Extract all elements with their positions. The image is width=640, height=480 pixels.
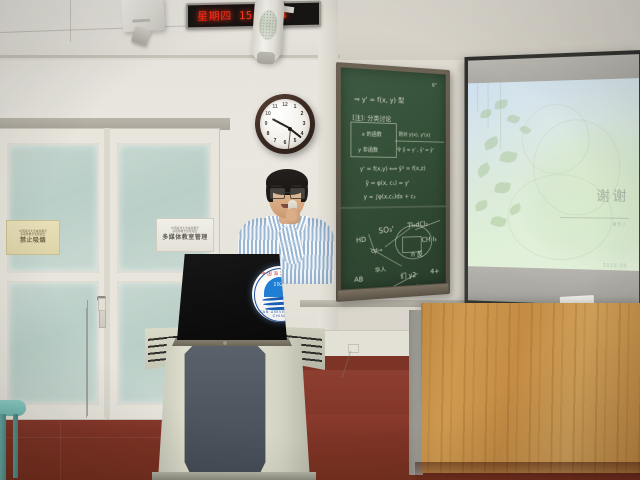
chalk-text: HD [356,236,367,245]
stool-leg [13,414,18,478]
slide-leaf-graphic [495,99,508,109]
glasses-bridge [283,192,290,193]
chalk-text: y' = f(x,y) ⟺ ŷ² = f(x,z) [360,165,426,172]
projected-slide: 谢谢 报告人 2019.09 [468,78,639,272]
person-hand-right [285,207,301,225]
chalk-text: x 的函数 [362,130,382,138]
glasses-lens-left [270,188,285,199]
chalk-text: 华人 [375,264,387,274]
chalk-text: n 反 [411,249,423,259]
clock-face: 12 1 2 3 4 5 6 7 8 9 10 11 [260,99,310,149]
classroom-door-left[interactable] [0,128,108,420]
chalk-text: 们 y2 [400,270,416,281]
university-emblem: 中国海洋大学 1924 OCEAN UNIVERSITY OF CHINA [252,266,308,322]
door-sign-left: 中国海洋大学本科教学 多媒体教室管理规定 禁止吸烟 [6,220,60,255]
wooden-desk-top [421,303,640,473]
emblem-english-name: OCEAN UNIVERSITY OF CHINA [252,310,308,318]
clock-numeral-3: 3 [300,121,308,127]
slide-leaf-graphic [499,150,517,165]
projection-screen: 谢谢 报告人 2019.09 [464,50,640,310]
slide-leaf-graphic [490,214,507,229]
chalk-text: AB [354,275,363,283]
chalk-text: cd→ [371,247,382,255]
chalk-text: 4+ [430,267,439,275]
column-speaker [251,0,286,63]
clock-center-pin [288,127,292,131]
slide-leaf-graphic [483,136,500,151]
chalk-line [395,141,444,143]
clock-numeral-12: 12 [281,102,289,108]
speaker-cap [257,51,276,64]
person-eyebrow-left [271,185,282,187]
wall-outlet[interactable] [98,298,106,311]
chalk-text: ŷ = φ(x, c₁) = y' [366,180,410,187]
slide-date-text: 2019.09 [603,263,627,270]
blackboard: ⇒ y' = f(x, y) 型[注]: 分类讨论x 的函数则对 y(x), y… [336,62,450,302]
slide-thanks-text: 谢谢 [596,186,629,206]
podium-base [152,472,316,480]
lecture-hall-photo: 中国海洋大学本科教学 多媒体教室管理规定 禁止吸烟 中国海洋大学本科教学 多媒体… [0,0,640,480]
door-sign-left-title: 禁止吸烟 [20,238,46,246]
stool-leg [0,414,6,480]
slide-leaf-graphic [494,181,511,195]
clock-numeral-2: 2 [298,111,306,117]
chalk-text: y = ∫φ(x,c₁)dx + c₂ [364,193,416,200]
slide-leaf-graphic [475,162,492,178]
speaker-grill-mesh [258,9,278,40]
led-weekday-text: 星期四 [197,7,232,24]
ceiling-seam [0,55,340,58]
chalk-text: 6" [432,83,437,89]
door-hanging-cable [87,300,88,416]
chalk-text: ⇒ y' = f(x, y) 型 [354,94,404,105]
glasses-lens-right [290,188,305,199]
clock-numeral-5: 5 [291,138,299,144]
screen-bottom-bar [468,266,639,307]
door-sign-right: 中国海洋大学本科教学 多媒体教室管理规定 多媒体教室管理 [156,218,214,252]
clock-numeral-9: 9 [262,121,270,127]
blackboard-surface: ⇒ y' = f(x, y) 型[注]: 分类讨论x 的函数则对 y(x), y… [341,67,446,289]
door-sign-right-line2: 多媒体教室管理规定 [172,230,197,233]
door-sign-right-title: 多媒体教室管理 [162,235,208,243]
chalk-text: y 非函数 [358,145,378,153]
person-eyebrow-right [291,185,302,187]
podium-control-surface[interactable]: 中国海洋大学 1924 OCEAN UNIVERSITY OF CHINA [177,254,287,340]
slide-leaf-graphic [506,113,520,126]
slide-vine-graphic [500,82,501,149]
slide-leaf-graphic [474,200,488,212]
wall-cable [86,308,87,418]
slide-vine-graphic [488,83,489,129]
slide-vine-graphic [477,83,478,112]
wall-panel-seam-vertical [70,0,71,42]
door-mullion [104,128,110,418]
lectern-podium: 中国海洋大学 1924 OCEAN UNIVERSITY OF CHINA [130,250,340,480]
slide-subtitle: 报告人 [613,222,628,228]
person-glasses [269,188,305,197]
chalk-text: SO₃' [378,225,394,236]
podium-screw [223,341,227,345]
clock-numeral-10: 10 [264,111,272,117]
clock-numeral-7: 7 [271,138,279,144]
clock-numeral-11: 11 [271,104,279,110]
clock-numeral-8: 8 [264,131,272,137]
blackboard-divider [341,205,446,209]
chalk-text: 令 ŷ = y' , ŷ' = ŷ' [397,146,434,153]
chalk-text: [注]: 分类讨论 [352,112,391,123]
wall-clock: 12 1 2 3 4 5 6 7 8 9 10 11 [255,94,315,154]
floor-tile-seam [60,415,61,480]
chalk-text: CH I₃ [422,235,437,244]
slide-leaf-graphic [480,109,491,118]
clock-numeral-1: 1 [291,104,299,110]
emblem-founding-year: 1924 [264,282,296,288]
podium-front-panel [182,346,268,478]
door-sign-left-line2: 多媒体教室管理规定 [20,233,45,236]
chalk-text: 则对 y(x), y'(x) [399,131,431,139]
desk-shadow [415,462,640,480]
